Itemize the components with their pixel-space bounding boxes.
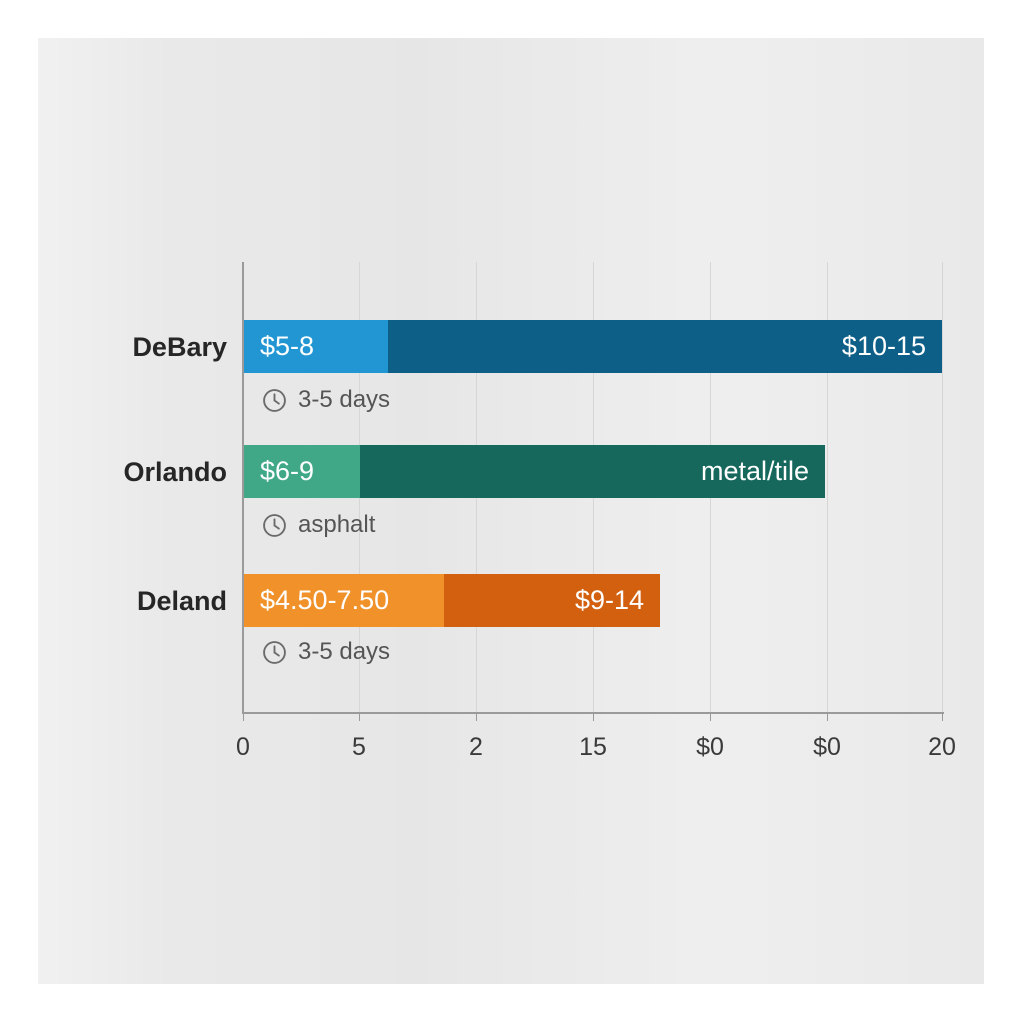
sub-row-deland: 3-5 days <box>262 638 390 666</box>
bar-segment-label: $10-15 <box>842 331 926 362</box>
y-axis-label-deland: Deland <box>27 586 227 617</box>
x-tick-mark <box>827 712 828 721</box>
bar-segment-deland-high[interactable]: $9-14 <box>444 574 660 627</box>
sub-row-label: 3-5 days <box>298 638 390 666</box>
x-tick-label-1: 5 <box>314 733 404 762</box>
x-tick-mark <box>243 712 244 721</box>
bar-segment-debary-high[interactable]: $10-15 <box>388 320 942 373</box>
clock-icon <box>262 388 287 413</box>
x-tick-label-4: $0 <box>665 733 755 762</box>
sub-row-orlando: asphalt <box>262 511 375 539</box>
bar-segment-debary-low[interactable]: $5-8 <box>242 320 388 373</box>
x-tick-mark <box>476 712 477 721</box>
y-axis-line <box>242 262 244 714</box>
sub-row-debary: 3-5 days <box>262 386 390 414</box>
bar-segment-label: $4.50-7.50 <box>260 585 389 616</box>
plot-area: $5-8 $10-15 3-5 days $6-9 metal/tile <box>242 262 943 712</box>
bar-segment-label: metal/tile <box>701 456 809 487</box>
bar-row-orlando[interactable]: $6-9 metal/tile <box>242 445 943 498</box>
y-axis-label-orlando: Orlando <box>27 457 227 488</box>
y-axis-category-labels: DeBary Orlando Deland <box>12 0 227 1024</box>
bar-segment-deland-low[interactable]: $4.50-7.50 <box>242 574 444 627</box>
sub-row-label: asphalt <box>298 511 375 539</box>
clock-icon <box>262 640 287 665</box>
x-tick-mark <box>710 712 711 721</box>
x-tick-mark <box>359 712 360 721</box>
x-tick-label-2: 2 <box>431 733 521 762</box>
x-tick-label-3: 15 <box>548 733 638 762</box>
bar-segment-label: $6-9 <box>260 456 314 487</box>
bar-row-deland[interactable]: $4.50-7.50 $9-14 <box>242 574 943 627</box>
x-tick-label-5: $0 <box>782 733 872 762</box>
y-axis-label-debary: DeBary <box>27 332 227 363</box>
sub-row-label: 3-5 days <box>298 386 390 414</box>
x-tick-mark <box>593 712 594 721</box>
bar-segment-label: $5-8 <box>260 331 314 362</box>
bar-row-debary[interactable]: $5-8 $10-15 <box>242 320 943 373</box>
chart-figure: $5-8 $10-15 3-5 days $6-9 metal/tile <box>0 0 1024 1024</box>
x-tick-mark <box>942 712 943 721</box>
bar-segment-orlando-high[interactable]: metal/tile <box>360 445 825 498</box>
bar-segment-orlando-low[interactable]: $6-9 <box>242 445 360 498</box>
clock-icon <box>262 513 287 538</box>
x-tick-label-6: 20 <box>897 733 987 762</box>
bar-segment-label: $9-14 <box>575 585 644 616</box>
